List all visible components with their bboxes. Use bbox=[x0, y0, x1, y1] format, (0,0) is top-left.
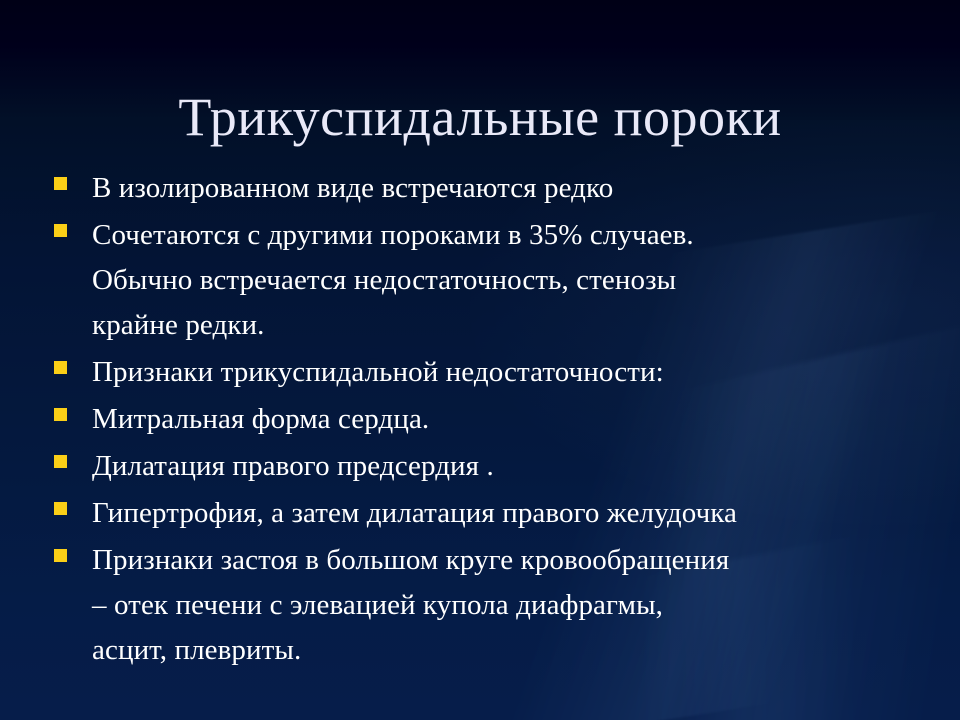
list-item: Митральная форма сердца. bbox=[54, 397, 934, 442]
list-item-text: В изолированном виде встречаются редко bbox=[92, 166, 934, 211]
square-bullet-icon bbox=[54, 224, 67, 237]
list-item-line: крайне редки. bbox=[92, 303, 934, 348]
list-item: Сочетаются с другими пороками в 35% случ… bbox=[54, 213, 934, 348]
list-item-line: Сочетаются с другими пороками в 35% случ… bbox=[92, 213, 934, 258]
list-item-text: Дилатация правого предсердия . bbox=[92, 444, 934, 489]
list-item: Дилатация правого предсердия . bbox=[54, 444, 934, 489]
list-item-text: Митральная форма сердца. bbox=[92, 397, 934, 442]
square-bullet-icon bbox=[54, 408, 67, 421]
square-bullet-icon bbox=[54, 177, 67, 190]
list-item-line: В изолированном виде встречаются редко bbox=[92, 166, 934, 211]
square-bullet-icon bbox=[54, 455, 67, 468]
list-item-text: Сочетаются с другими пороками в 35% случ… bbox=[92, 213, 934, 348]
slide-title: Трикуспидальные пороки bbox=[0, 88, 960, 146]
list-item-line: – отек печени с элевацией купола диафраг… bbox=[92, 583, 934, 628]
square-bullet-icon bbox=[54, 502, 67, 515]
list-item: Гипертрофия, а затем дилатация правого ж… bbox=[54, 491, 934, 536]
list-item-text: Признаки трикуспидальной недостаточности… bbox=[92, 350, 934, 395]
list-item-line: Обычно встречается недостаточность, стен… bbox=[92, 258, 934, 303]
list-item: Признаки трикуспидальной недостаточности… bbox=[54, 350, 934, 395]
list-item-text: Гипертрофия, а затем дилатация правого ж… bbox=[92, 491, 934, 536]
square-bullet-icon bbox=[54, 549, 67, 562]
list-item-text: Признаки застоя в большом круге кровообр… bbox=[92, 538, 934, 673]
list-item-line: Митральная форма сердца. bbox=[92, 397, 934, 442]
list-item-line: Признаки застоя в большом круге кровообр… bbox=[92, 538, 934, 583]
list-item-line: Дилатация правого предсердия . bbox=[92, 444, 934, 489]
list-item-line: асцит, плевриты. bbox=[92, 628, 934, 673]
presentation-slide: Трикуспидальные пороки В изолированном в… bbox=[0, 0, 960, 720]
slide-bullet-list: В изолированном виде встречаются редко С… bbox=[54, 166, 934, 675]
list-item: Признаки застоя в большом круге кровообр… bbox=[54, 538, 934, 673]
list-item-line: Гипертрофия, а затем дилатация правого ж… bbox=[92, 491, 934, 536]
list-item-line: Признаки трикуспидальной недостаточности… bbox=[92, 350, 934, 395]
list-item: В изолированном виде встречаются редко bbox=[54, 166, 934, 211]
square-bullet-icon bbox=[54, 361, 67, 374]
